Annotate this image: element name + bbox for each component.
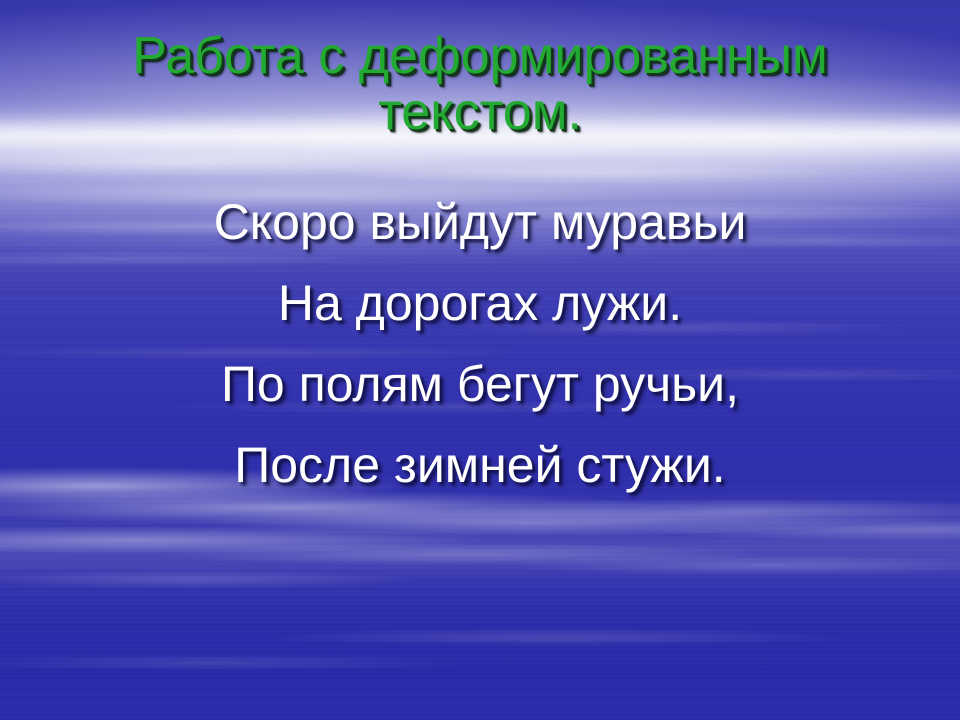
slide-title-line-1: Работа с деформированным bbox=[0, 28, 960, 84]
slide-body-line-1: Скоро выйдут муравьи bbox=[0, 182, 960, 263]
presentation-slide: Работа с деформированным текстом. Скоро … bbox=[0, 0, 960, 720]
slide-body-line-3: По полям бегут ручьи, bbox=[0, 344, 960, 425]
slide-body-text: Скоро выйдут муравьи На дорогах лужи. По… bbox=[0, 182, 960, 506]
slide-title-line-2: текстом. bbox=[0, 84, 960, 140]
slide-title: Работа с деформированным текстом. bbox=[0, 28, 960, 140]
slide-body-line-2: На дорогах лужи. bbox=[0, 263, 960, 344]
slide-content: Работа с деформированным текстом. Скоро … bbox=[0, 0, 960, 720]
slide-body-line-4: После зимней стужи. bbox=[0, 425, 960, 506]
